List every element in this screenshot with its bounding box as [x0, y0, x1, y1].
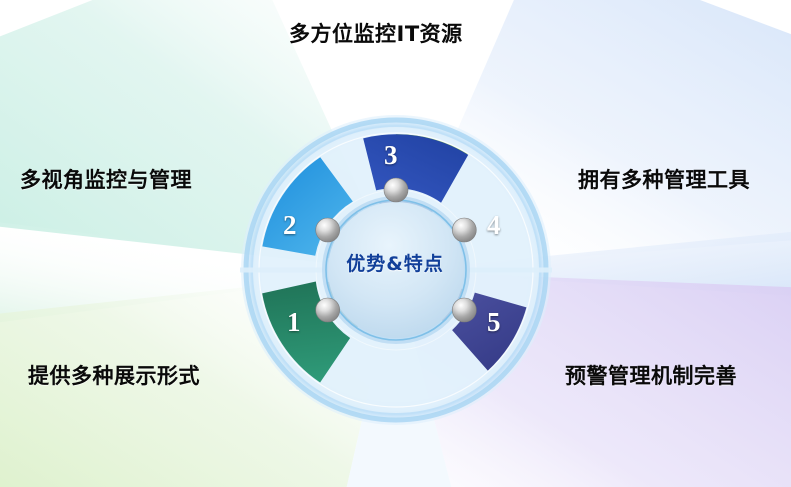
- marker-ball-4[interactable]: [452, 218, 476, 242]
- marker-ball-5[interactable]: [452, 298, 476, 322]
- marker-ball-2[interactable]: [316, 218, 340, 242]
- label-left-upper: 多视角监控与管理: [20, 170, 192, 191]
- label-left-lower: 提供多种展示形式: [28, 366, 200, 387]
- donut-wheel: [240, 114, 552, 426]
- center-disc: [328, 202, 464, 338]
- marker-ball-3[interactable]: [384, 178, 408, 202]
- infographic-canvas: 1 2 3 4 5 优势&特点 多方位监控IT资源 多视角监控与管理 提供多种展…: [0, 0, 791, 487]
- marker-ball-1[interactable]: [316, 298, 340, 322]
- label-right-lower: 预警管理机制完善: [565, 366, 737, 387]
- label-top: 多方位监控IT资源: [289, 24, 463, 45]
- label-right-upper: 拥有多种管理工具: [578, 170, 750, 191]
